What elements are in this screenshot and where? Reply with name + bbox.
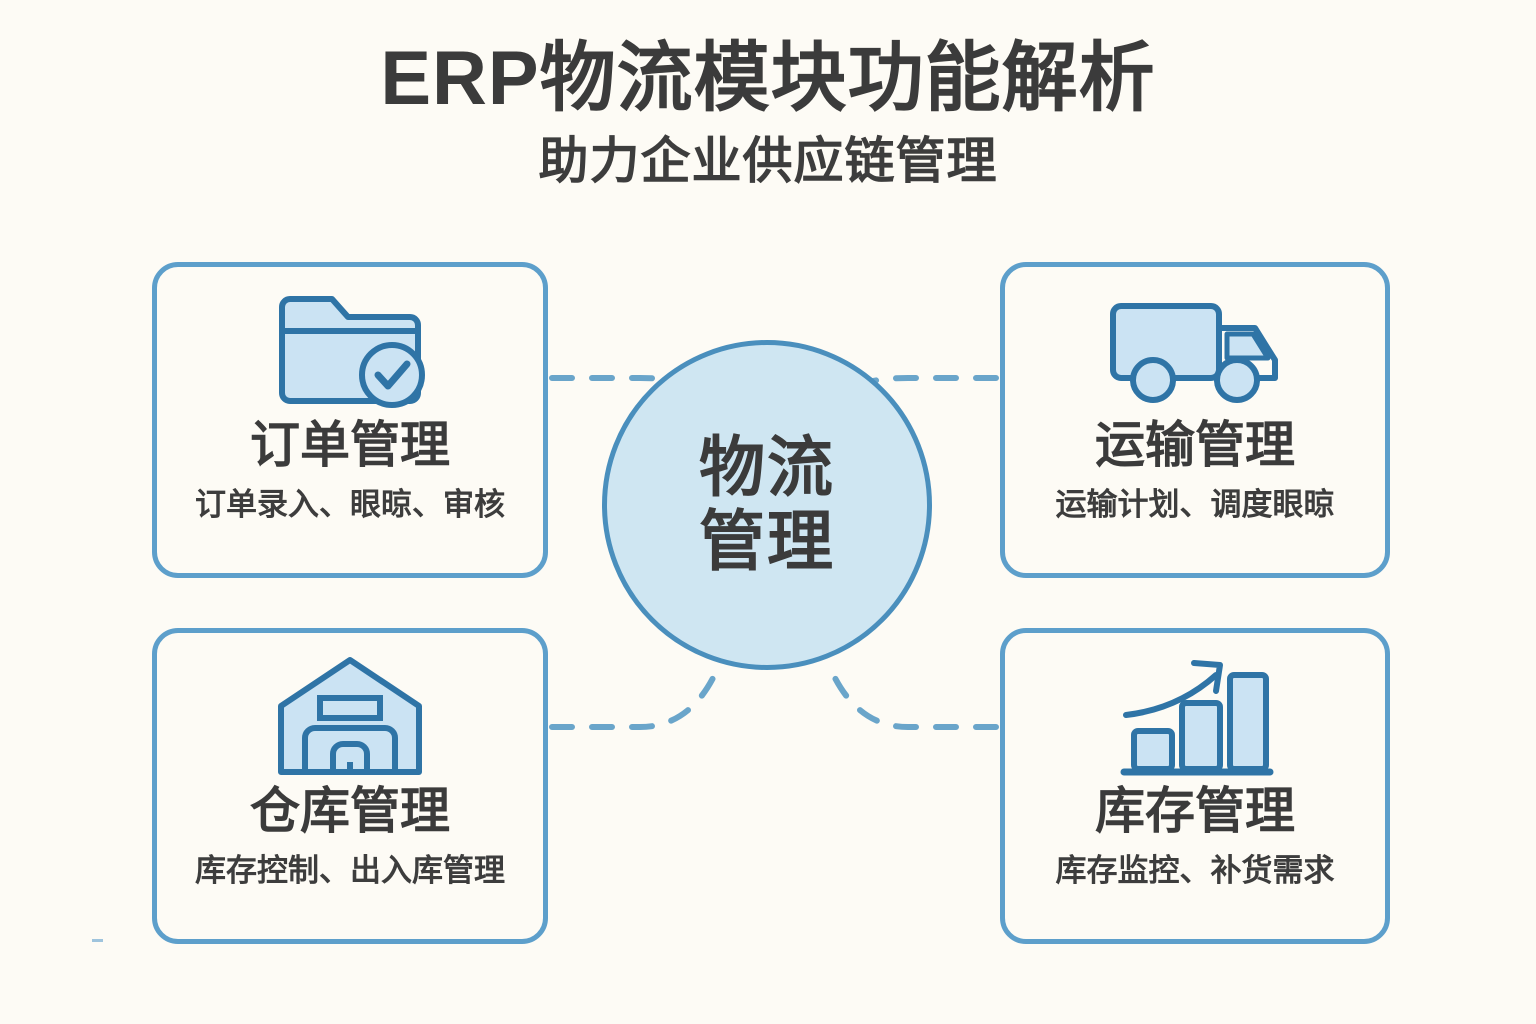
- card-title: 运输管理: [1095, 419, 1295, 472]
- hub-label-line1: 物流: [699, 431, 835, 505]
- card-transport-management[interactable]: 运输管理 运输计划、调度眼晾: [1000, 262, 1390, 578]
- header: ERP物流模块功能解析 助力企业供应链管理: [0, 38, 1536, 189]
- card-description: 库存控制、出入库管理: [195, 854, 505, 888]
- connector-warehouse-to-hub: [552, 672, 716, 727]
- page-subtitle: 助力企业供应链管理: [0, 134, 1536, 189]
- card-description: 订单录入、眼晾、审核: [195, 488, 505, 522]
- hub-label-line2: 管理: [699, 505, 835, 579]
- card-description: 运输计划、调度眼晾: [1056, 488, 1335, 522]
- card-inventory-management[interactable]: 库存管理 库存监控、补货需求: [1000, 628, 1390, 944]
- center-hub-logistics[interactable]: 物流 管理: [602, 340, 932, 670]
- card-description: 库存监控、补货需求: [1056, 854, 1335, 888]
- page-title: ERP物流模块功能解析: [0, 38, 1536, 120]
- folder-check-icon: [270, 289, 430, 411]
- card-title: 仓库管理: [250, 785, 450, 838]
- bar-chart-growth-icon: [1116, 655, 1274, 777]
- warehouse-icon: [275, 655, 425, 777]
- card-title: 库存管理: [1095, 785, 1295, 838]
- infographic-canvas: ERP物流模块功能解析 助力企业供应链管理 订单管理 订单录入、眼晾、审核: [0, 0, 1536, 1024]
- card-warehouse-management[interactable]: 仓库管理 库存控制、出入库管理: [152, 628, 548, 944]
- truck-icon: [1105, 289, 1285, 411]
- connector-inventory-to-hub: [832, 672, 996, 727]
- stray-dash-artifact: [92, 939, 103, 942]
- card-order-management[interactable]: 订单管理 订单录入、眼晾、审核: [152, 262, 548, 578]
- card-title: 订单管理: [250, 419, 450, 472]
